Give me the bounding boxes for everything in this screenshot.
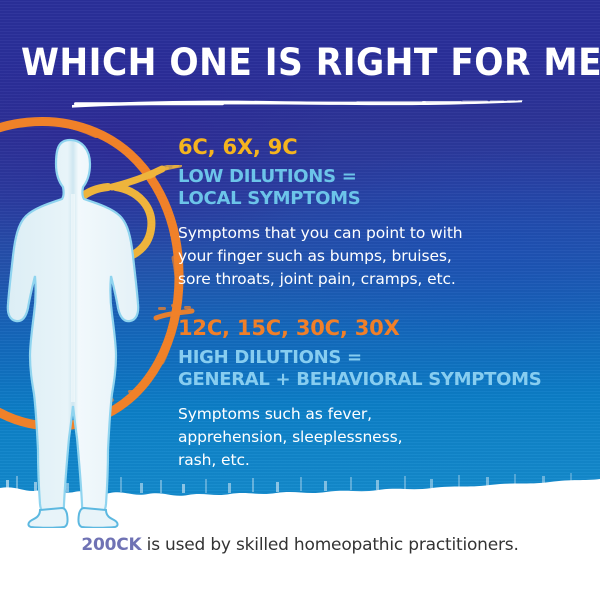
- white-brush-underline: [70, 98, 525, 110]
- subheading-high: HIGH DILUTIONS = GENERAL + BEHAVIORAL SY…: [178, 347, 578, 391]
- infographic-canvas: WHICH ONE IS RIGHT FOR ME? 6C, 6X, 9C LO…: [0, 0, 600, 600]
- headline-group: WHICH ONE IS RIGHT FOR ME?: [0, 42, 600, 84]
- human-body-silhouette: [0, 138, 170, 528]
- footer-text: is used by skilled homeopathic practitio…: [141, 535, 518, 555]
- dilution-block-high: 12C, 15C, 30C, 30X HIGH DILUTIONS = GENE…: [178, 315, 578, 472]
- dose-list-high: 12C, 15C, 30C, 30X: [178, 315, 578, 341]
- footer-note: 200CK is used by skilled homeopathic pra…: [0, 533, 600, 557]
- body-text-low: Symptoms that you can point to with your…: [178, 222, 578, 291]
- dilution-block-low: 6C, 6X, 9C LOW DILUTIONS = LOCAL SYMPTOM…: [178, 134, 578, 291]
- subheading-low: LOW DILUTIONS = LOCAL SYMPTOMS: [178, 166, 578, 210]
- page-title: WHICH ONE IS RIGHT FOR ME?: [21, 42, 579, 84]
- dilution-blocks: 6C, 6X, 9C LOW DILUTIONS = LOCAL SYMPTOM…: [178, 134, 578, 472]
- dose-list-low: 6C, 6X, 9C: [178, 134, 578, 160]
- footer-code: 200CK: [81, 535, 141, 555]
- body-text-high: Symptoms such as fever, apprehension, sl…: [178, 403, 578, 472]
